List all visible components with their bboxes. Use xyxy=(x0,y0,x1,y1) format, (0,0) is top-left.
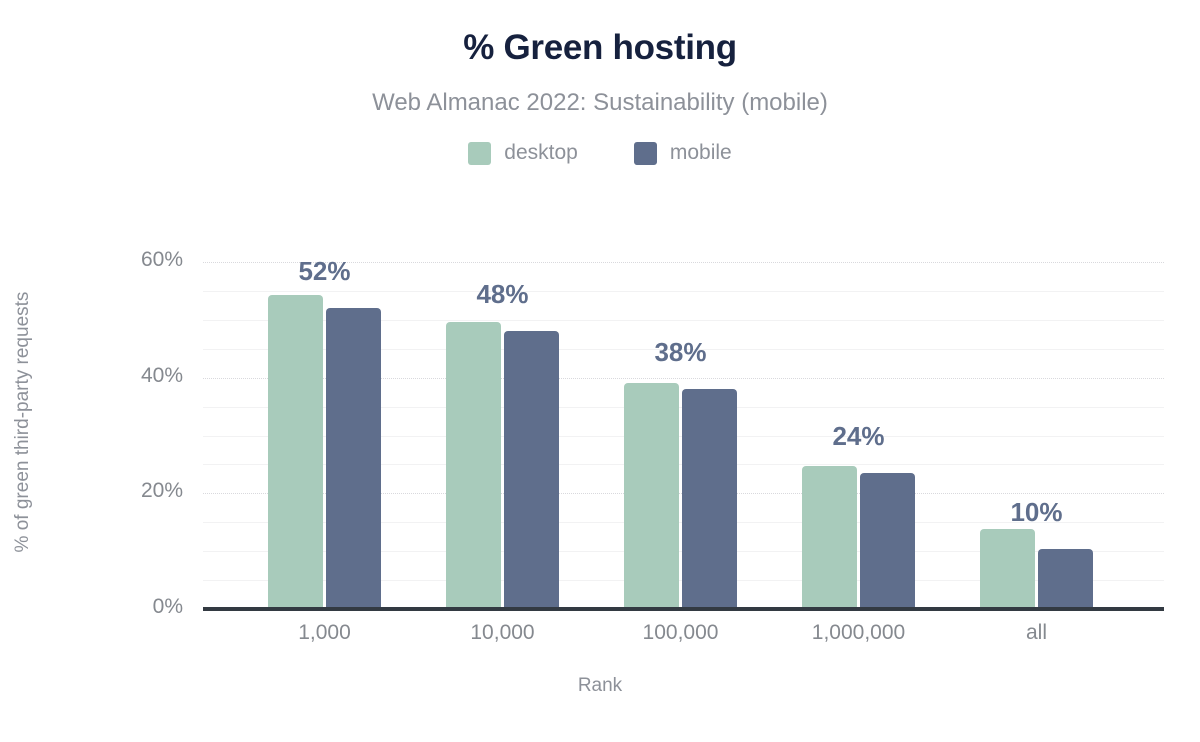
bar-value-label: 38% xyxy=(600,337,761,368)
y-axis-tick-label: 60% xyxy=(113,248,183,272)
y-axis-title: % of green third-party requests xyxy=(12,122,34,722)
legend-swatch-desktop xyxy=(468,142,491,165)
plot-area: 52%1,00048%10,00038%100,00024%1,000,0001… xyxy=(203,258,1164,609)
x-axis-category-label: 1,000,000 xyxy=(778,621,939,645)
legend-label-desktop: desktop xyxy=(504,141,578,165)
bar-desktop[interactable] xyxy=(980,529,1035,609)
bar-group: 24%1,000,000 xyxy=(802,258,915,609)
bar-desktop[interactable] xyxy=(802,466,857,609)
bar-mobile[interactable] xyxy=(504,331,559,609)
x-axis-category-label: 1,000 xyxy=(244,621,405,645)
bar-value-label: 10% xyxy=(956,497,1117,528)
bar-desktop[interactable] xyxy=(268,295,323,609)
y-axis-tick-label: 0% xyxy=(113,595,183,619)
bar-value-label: 52% xyxy=(244,256,405,287)
x-axis-category-label: all xyxy=(956,621,1117,645)
legend-item-mobile[interactable]: mobile xyxy=(634,141,732,165)
x-axis-line xyxy=(203,607,1164,611)
bar-desktop[interactable] xyxy=(446,322,501,609)
bar-mobile[interactable] xyxy=(860,473,915,609)
y-axis-tick-label: 20% xyxy=(113,479,183,503)
bar-mobile[interactable] xyxy=(1038,549,1093,609)
bar-value-label: 24% xyxy=(778,421,939,452)
bar-mobile[interactable] xyxy=(682,389,737,609)
chart-legend: desktop mobile xyxy=(0,141,1200,165)
bar-value-label: 48% xyxy=(422,279,583,310)
chart-subtitle: Web Almanac 2022: Sustainability (mobile… xyxy=(0,89,1200,117)
bar-group: 48%10,000 xyxy=(446,258,559,609)
x-axis-category-label: 10,000 xyxy=(422,621,583,645)
y-axis-tick-label: 40% xyxy=(113,364,183,388)
bar-desktop[interactable] xyxy=(624,383,679,609)
chart-title: % Green hosting xyxy=(0,28,1200,68)
legend-swatch-mobile xyxy=(634,142,657,165)
x-axis-category-label: 100,000 xyxy=(600,621,761,645)
bar-group: 10%all xyxy=(980,258,1093,609)
bar-group: 38%100,000 xyxy=(624,258,737,609)
legend-label-mobile: mobile xyxy=(670,141,732,165)
x-axis-title: Rank xyxy=(0,675,1200,697)
legend-item-desktop[interactable]: desktop xyxy=(468,141,578,165)
bar-mobile[interactable] xyxy=(326,308,381,609)
chart-container: % Green hosting Web Almanac 2022: Sustai… xyxy=(0,0,1200,742)
bar-group: 52%1,000 xyxy=(268,258,381,609)
